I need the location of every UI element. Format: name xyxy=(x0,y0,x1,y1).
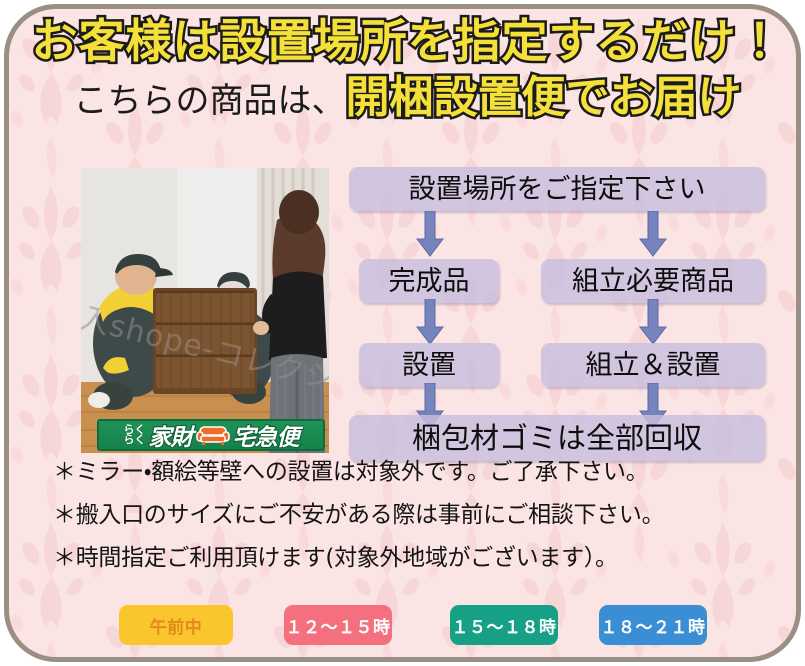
subtitle-accent-text: 開梱設置便でお届け xyxy=(346,72,742,123)
notes-list: ＊ミラー・額絵等壁への設置は対象外です。ご了承下さい。 ＊搬入口のサイズにご不安… xyxy=(53,461,773,590)
kuroneko-raku-raku-logo: らく らく 家財 宅急便 xyxy=(97,419,325,451)
note-item: ＊ミラー・額絵等壁への設置は対象外です。ご了承下さい。 xyxy=(53,461,773,484)
logo-kazai-text: 家財 xyxy=(149,419,193,451)
timeslot-badge-15-18[interactable]: １５〜１８時 xyxy=(450,605,558,645)
logo-raku-line2: らく xyxy=(124,435,146,445)
promo-banner: お客様は設置場所を指定するだけ！ こちらの商品は、開梱設置便でお届け xyxy=(4,4,801,662)
flow-step-assembly-and-installation: 組立＆設置 xyxy=(541,343,765,387)
arrow-down-icon xyxy=(638,211,668,257)
delivery-photo-illustration xyxy=(81,168,329,453)
installation-flow-chart: 設置場所をご指定下さい 完成品 組立必要商品 設置 組立＆設置 梱包材ゴミは全部… xyxy=(345,167,775,457)
sofa-icon xyxy=(196,423,230,447)
flow-step-finished-product: 完成品 xyxy=(359,259,499,303)
subtitle-row: こちらの商品は、開梱設置便でお届け xyxy=(9,72,801,125)
flow-step-installation: 設置 xyxy=(359,343,499,387)
note-item: ＊搬入口のサイズにご不安がある際は事前にご相談下さい。 xyxy=(53,504,773,527)
headline-block: お客様は設置場所を指定するだけ！ こちらの商品は、開梱設置便でお届け xyxy=(9,15,801,125)
arrow-down-icon xyxy=(638,299,668,345)
timeslot-badge-18-21[interactable]: １８〜２１時 xyxy=(599,605,707,645)
arrow-down-icon xyxy=(415,211,445,257)
subtitle-plain-text: こちらの商品は、 xyxy=(74,81,346,121)
note-item: ＊時間指定ご利用頂けます(対象外地域がございます）。 xyxy=(53,547,773,570)
arrow-down-icon xyxy=(415,299,445,345)
delivery-photo: 直輸入shope-コレクション xyxy=(81,168,329,453)
delivery-timeslot-list: 午前中 １２〜１５時 １５〜１８時 １８〜２１時 xyxy=(119,605,719,651)
flow-step-assembly-required: 組立必要商品 xyxy=(541,259,765,303)
timeslot-badge-12-15[interactable]: １２〜１５時 xyxy=(284,605,392,645)
flow-step-specify-location: 設置場所をご指定下さい xyxy=(349,167,765,211)
logo-takkyubin-text: 宅急便 xyxy=(233,419,299,451)
logo-raku-raku: らく らく xyxy=(124,425,146,446)
flow-step-packaging-removal: 梱包材ゴミは全部回収 xyxy=(349,415,765,461)
page-title: お客様は設置場所を指定するだけ！ xyxy=(9,15,801,68)
timeslot-badge-morning[interactable]: 午前中 xyxy=(119,605,233,645)
